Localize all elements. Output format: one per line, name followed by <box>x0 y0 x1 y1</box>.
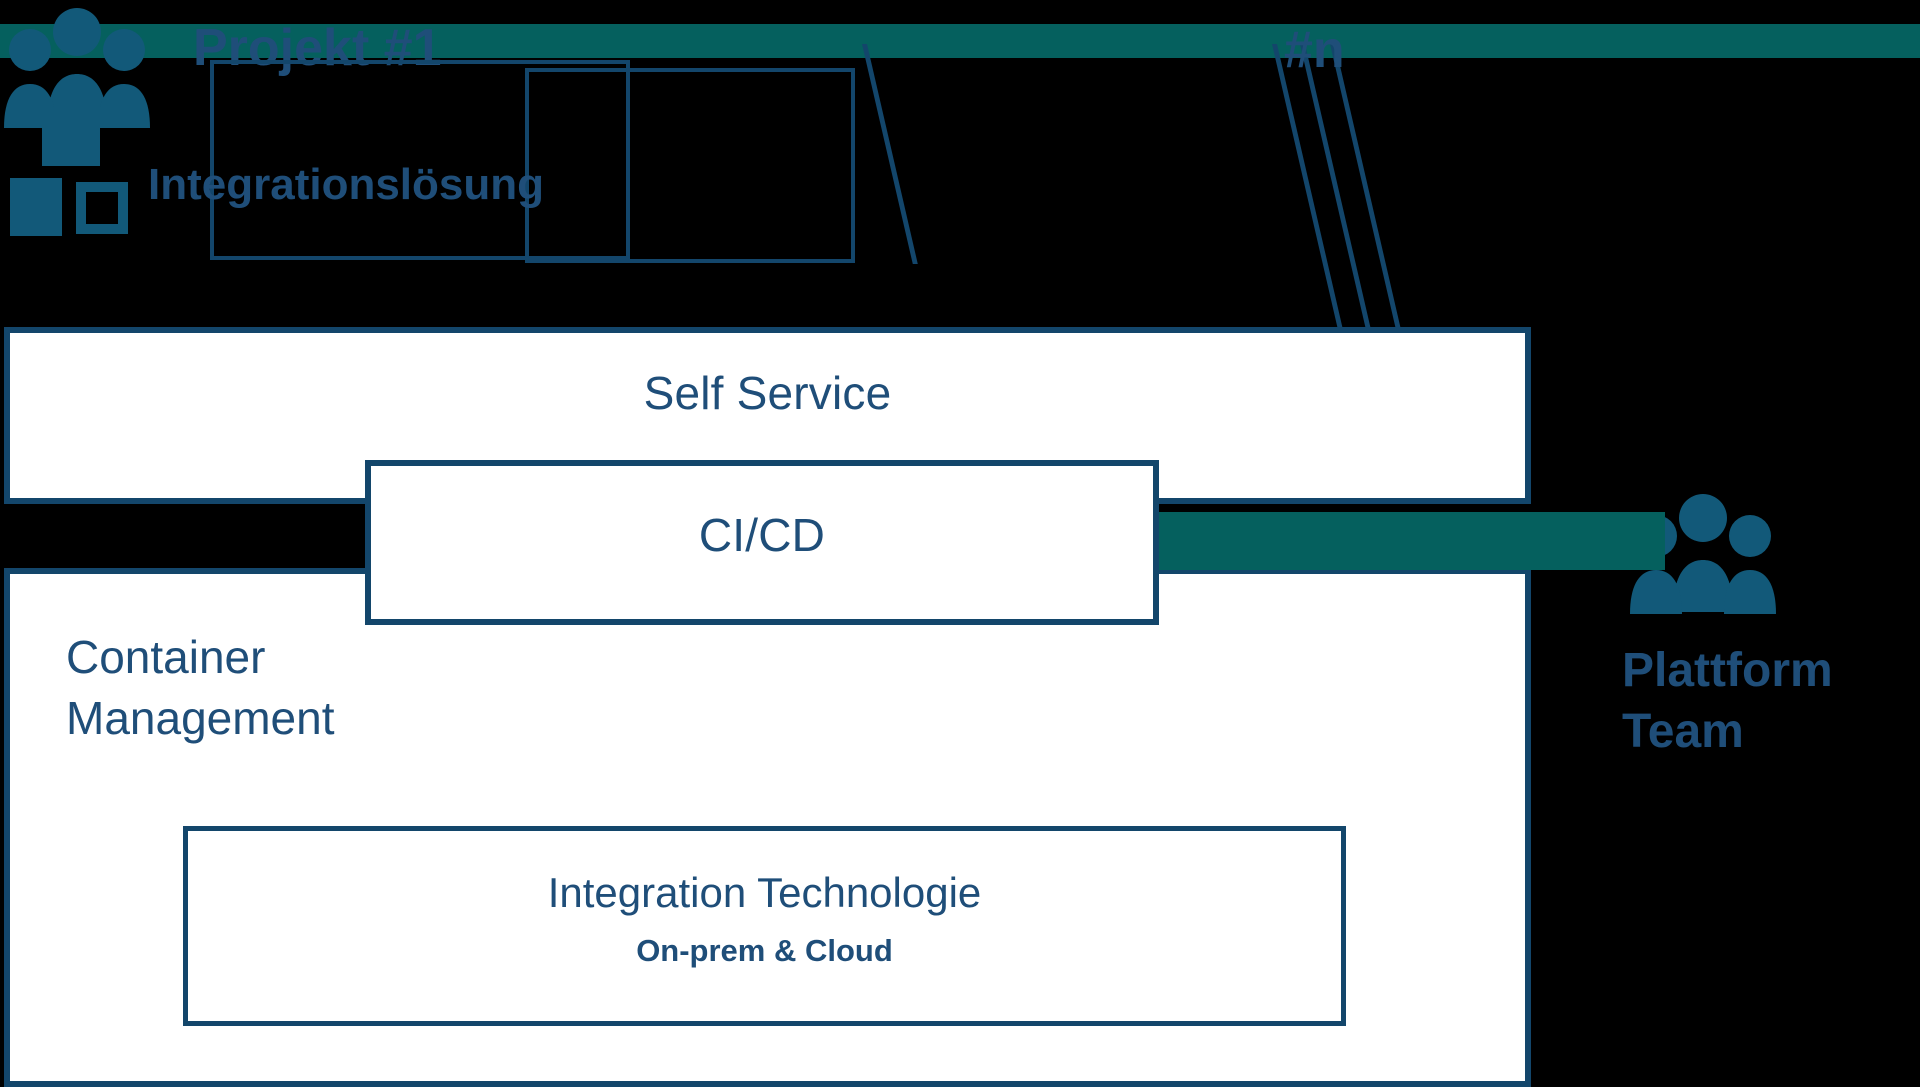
project-deck-sheet-1 <box>862 44 918 264</box>
project-subtitle: Integrationslösung <box>148 160 544 210</box>
project-shape-square-large <box>42 108 100 166</box>
diagram-canvas: Projekt #1 Integrationslösung #n Self Se… <box>0 0 1920 1087</box>
integration-title: Integration Technologie <box>188 869 1341 917</box>
project-card-2 <box>525 68 855 263</box>
project-shape-square-small <box>10 178 62 236</box>
project-n-label: #n <box>1284 20 1345 80</box>
layer-label-self-service: Self Service <box>10 366 1525 420</box>
integration-subtitle: On-prem & Cloud <box>188 933 1341 969</box>
layer-box-integration-technologie[interactable]: Integration Technologie On-prem & Cloud <box>183 826 1346 1026</box>
project-shape-square-outline <box>76 182 128 234</box>
layer-box-ci-cd[interactable]: CI/CD <box>365 460 1159 625</box>
connector-band-platform-team <box>1155 512 1665 570</box>
layer-label-ci-cd: CI/CD <box>371 508 1153 562</box>
platform-team-label: Plattform Team <box>1622 640 1833 763</box>
layer-label-container-management: Container Management <box>66 627 335 749</box>
